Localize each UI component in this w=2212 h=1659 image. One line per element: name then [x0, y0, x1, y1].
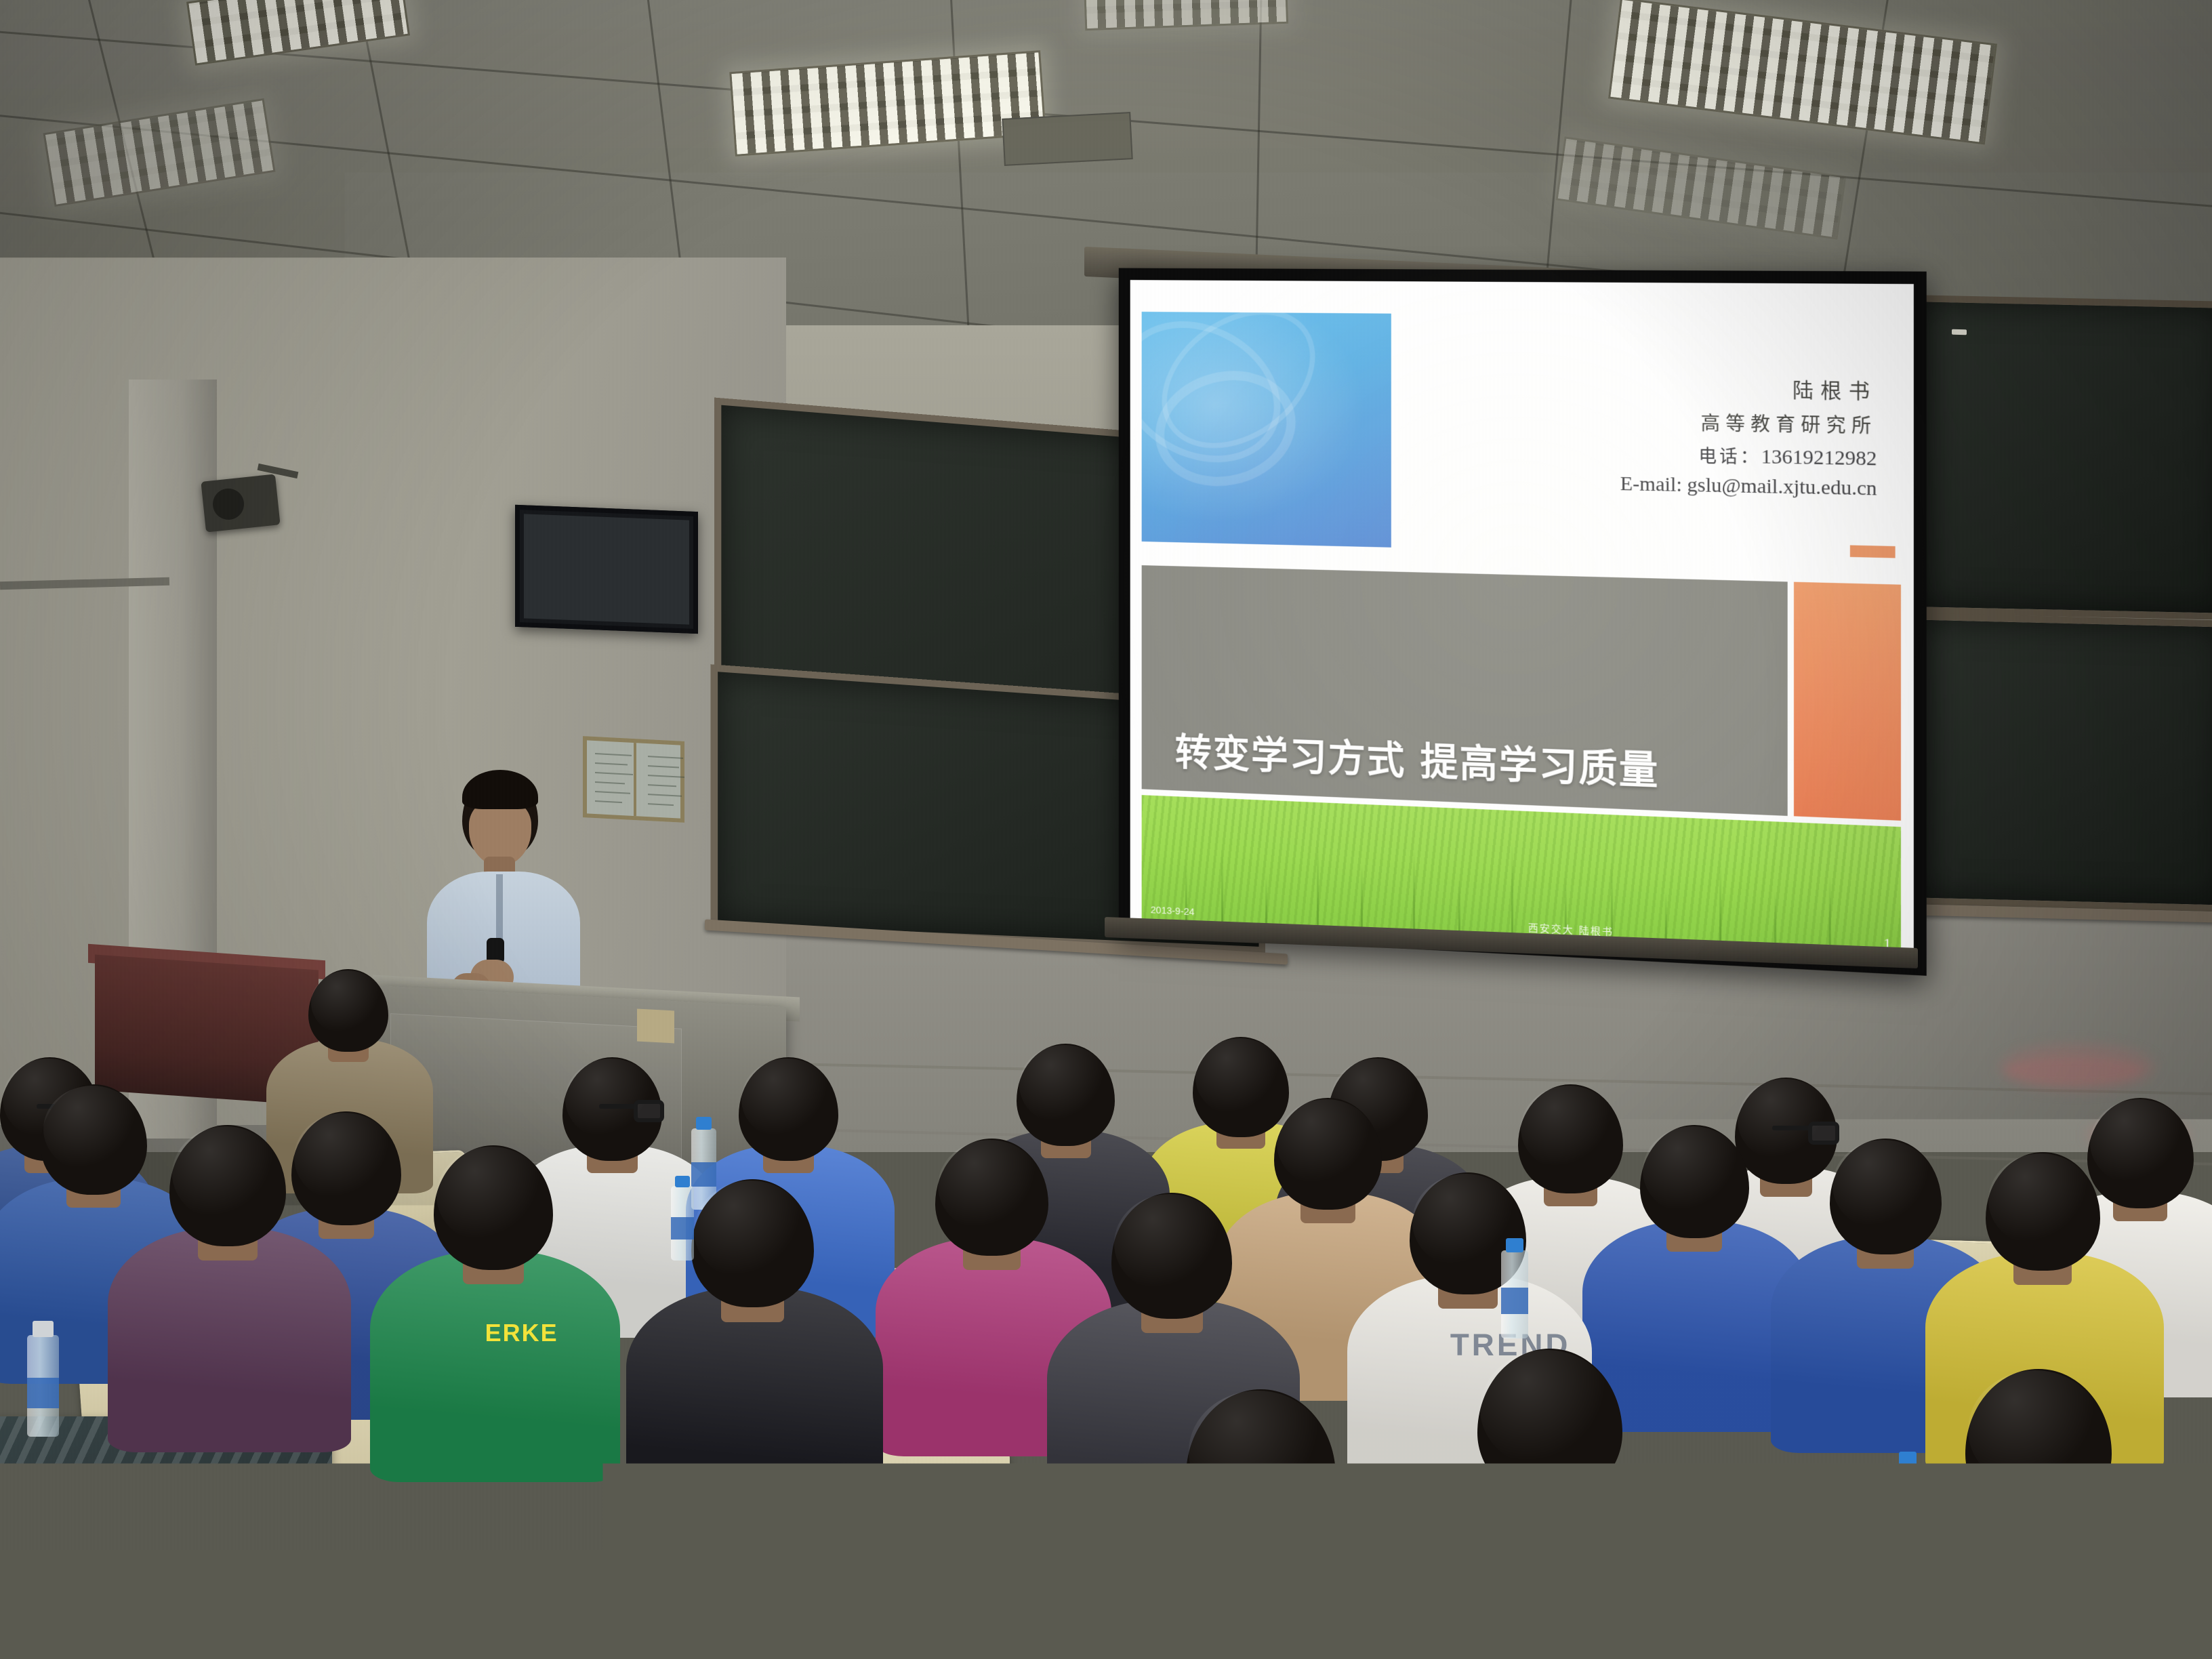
- eyeglasses-temple-arm: [1772, 1126, 1812, 1130]
- backpack[interactable]: [0, 1416, 332, 1659]
- hair-highlight: [1277, 1099, 1376, 1187]
- water-bottle[interactable]: [1501, 1250, 1528, 1338]
- slide-title: 转变学习方式 提高学习质量: [1175, 722, 1660, 796]
- slide-title-row: 转变学习方式 提高学习质量: [1142, 565, 1901, 821]
- eyeglasses-icon: [634, 1100, 664, 1122]
- hair-highlight: [1738, 1079, 1832, 1162]
- hair-highlight: [694, 1181, 807, 1281]
- wall-marking: [2006, 1057, 2142, 1084]
- screen-surface: 陆根书 高等教育研究所 电话：13619212982 E-mail: gslu@…: [1130, 280, 1914, 962]
- hair-highlight: [1643, 1126, 1743, 1215]
- bottle-cap: [675, 1176, 690, 1188]
- audience-member-head: [1986, 1152, 2100, 1271]
- bottle-label: [27, 1378, 59, 1408]
- wall-monitor[interactable]: [515, 505, 698, 634]
- presenter-institute: 高等教育研究所: [1701, 409, 1877, 439]
- bottle-label: [691, 1162, 716, 1187]
- bottle-cap: [33, 1321, 53, 1337]
- projection-screen: 陆根书 高等教育研究所 电话：13619212982 E-mail: gslu@…: [1119, 268, 1927, 976]
- presenter-email: E-mail: gslu@mail.xjtu.edu.cn: [1620, 472, 1877, 501]
- audience-member-head: [308, 969, 388, 1052]
- slide-blue-panel: [1142, 312, 1391, 548]
- presenter-name: 陆根书: [1793, 373, 1877, 405]
- water-bottle[interactable]: [1894, 1464, 1921, 1552]
- audience-member-head: [1186, 1389, 1336, 1545]
- ceiling-vent: [1002, 112, 1132, 166]
- eyeglasses-icon: [1808, 1122, 1839, 1145]
- hair-highlight: [565, 1059, 657, 1140]
- slide-contact-info: 陆根书 高等教育研究所 电话：13619212982 E-mail: gslu@…: [1391, 291, 1901, 582]
- notice-board: [583, 736, 684, 823]
- hair-highlight: [1189, 1391, 1326, 1513]
- slide-header-row: 陆根书 高等教育研究所 电话：13619212982 E-mail: gslu@…: [1142, 289, 1901, 582]
- phone-label: 电话：: [1698, 447, 1761, 468]
- bottle-cap: [1899, 1452, 1917, 1466]
- phone-number: 13619212982: [1761, 445, 1877, 470]
- bottle-label: [1894, 1501, 1921, 1528]
- bottle-label: [1501, 1288, 1528, 1314]
- hair-highlight: [1480, 1350, 1613, 1468]
- hair-highlight: [938, 1140, 1042, 1232]
- hair-highlight: [43, 1086, 141, 1172]
- torso-shading: [370, 1250, 620, 1482]
- bottle-label: [671, 1217, 694, 1240]
- audience-member-torso: [108, 1227, 351, 1453]
- notice-text-lines: [592, 746, 675, 813]
- hair-highlight: [1988, 1153, 2093, 1247]
- hair-highlight: [1968, 1370, 2102, 1490]
- slide-orange-block: [1794, 582, 1901, 821]
- hair-highlight: [1195, 1038, 1284, 1117]
- chalk-piece[interactable]: [1952, 329, 1967, 335]
- bottle-cap: [696, 1117, 712, 1130]
- water-bottle[interactable]: [671, 1186, 694, 1261]
- lecture-hall-photo: 陆根书 高等教育研究所 电话：13619212982 E-mail: gslu@…: [0, 0, 2212, 1659]
- hair-highlight: [2090, 1099, 2188, 1186]
- hair-highlight: [1114, 1194, 1225, 1293]
- hair-highlight: [1521, 1086, 1617, 1171]
- chalkboard-right-lower: [1911, 613, 2212, 912]
- bottle-cap: [1506, 1238, 1523, 1252]
- chalkboard-right-upper: [1911, 295, 2212, 620]
- hair-highlight: [172, 1126, 279, 1221]
- hair-highlight: [436, 1147, 546, 1244]
- jacket-brand-text: ERKE: [485, 1319, 558, 1347]
- audience-member-torso: [370, 1250, 620, 1482]
- slide-gray-band: 转变学习方式 提高学习质量: [1142, 565, 1788, 816]
- hair-highlight: [1832, 1140, 1935, 1231]
- monitor-screen: [524, 514, 689, 624]
- slide-orange-dash: [1850, 546, 1896, 558]
- water-bottle[interactable]: [27, 1335, 59, 1437]
- hair-highlight: [311, 970, 384, 1036]
- audience-member-torso: [626, 1287, 883, 1525]
- presentation-slide: 陆根书 高等教育研究所 电话：13619212982 E-mail: gslu@…: [1130, 280, 1914, 962]
- hair-highlight: [741, 1059, 833, 1140]
- hair-highlight: [1019, 1045, 1109, 1125]
- torso-shading: [626, 1287, 883, 1525]
- lectern-box: [637, 1009, 674, 1044]
- hair-highlight: [294, 1113, 395, 1202]
- speaker-cone-icon: [211, 487, 246, 522]
- torso-shading: [108, 1227, 351, 1453]
- eyeglasses-temple-arm: [599, 1104, 638, 1109]
- wall-speaker: [201, 474, 280, 532]
- presenter-phone: 电话：13619212982: [1698, 442, 1877, 470]
